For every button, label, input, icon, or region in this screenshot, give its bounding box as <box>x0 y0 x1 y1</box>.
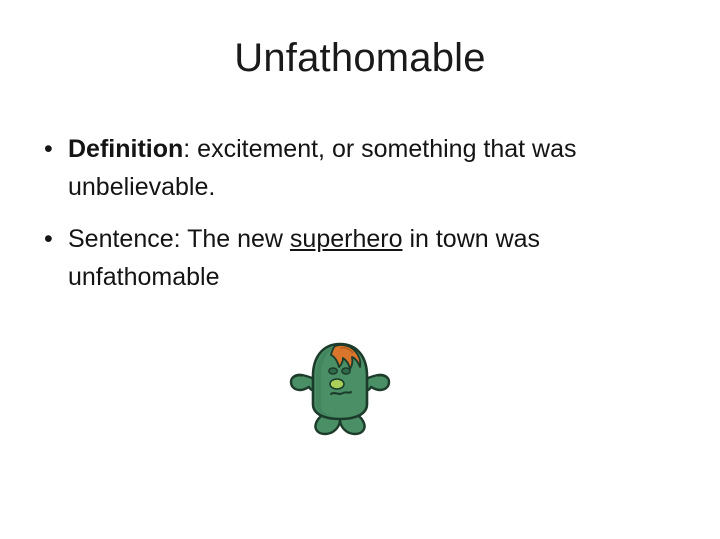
definition-label: Definition <box>68 135 183 163</box>
sentence-bullet-text: Sentence: The new superhero in town was … <box>68 220 680 296</box>
sentence-underlined-word: superhero <box>290 225 403 253</box>
right-eye <box>342 368 350 374</box>
sentence-lead: Sentence: The new <box>68 225 290 253</box>
bullet-dot-icon: • <box>44 130 60 168</box>
definition-bullet-text: Definition: excitement, or something tha… <box>68 130 680 206</box>
list-item: • Definition: excitement, or something t… <box>40 130 680 206</box>
left-eye <box>329 368 337 374</box>
bullet-dot-icon: • <box>44 220 60 258</box>
nose <box>330 379 344 389</box>
page-title: Unfathomable <box>0 34 720 82</box>
bullet-list: • Definition: excitement, or something t… <box>40 130 680 310</box>
definition-separator: : <box>183 135 197 163</box>
list-item: • Sentence: The new superhero in town wa… <box>40 220 680 296</box>
slide-canvas: Unfathomable • Definition: excitement, o… <box>0 0 720 539</box>
green-cartoon-character-illustration <box>283 338 397 442</box>
green-cartoon-character-svg <box>283 338 397 442</box>
